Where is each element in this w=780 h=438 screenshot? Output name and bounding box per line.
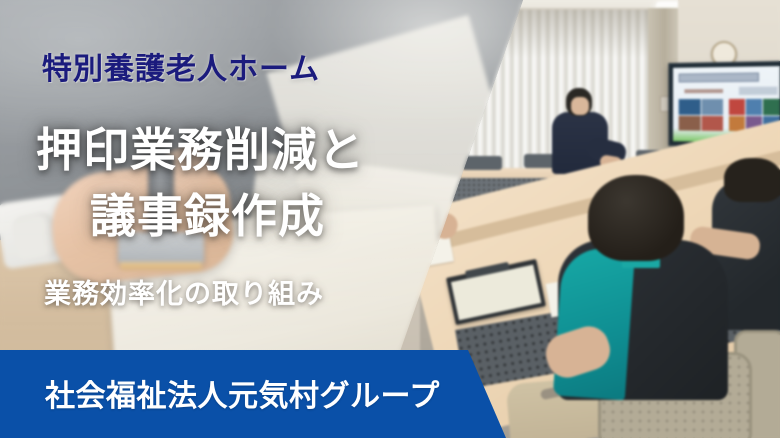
slide-collage-left: [679, 99, 723, 131]
stamp-body: [118, 232, 204, 264]
banner-canvas: 特別養護老人ホーム 押印業務削減と 議事録作成 業務効率化の取り組み 社会福祉法…: [0, 0, 780, 438]
back-chair-1: [462, 156, 502, 170]
presenter-face: [571, 97, 589, 115]
stamp-handle: [148, 155, 174, 235]
slide-section-label: [684, 89, 723, 93]
slide-title-bar: [679, 73, 759, 83]
attendee-right-head: [724, 158, 780, 202]
attendee-front-head: [588, 175, 684, 261]
organization-name: 社会福祉法人元気村グループ: [45, 371, 440, 415]
slide-text-block: [739, 87, 778, 95]
stamp-pad: [120, 262, 202, 270]
